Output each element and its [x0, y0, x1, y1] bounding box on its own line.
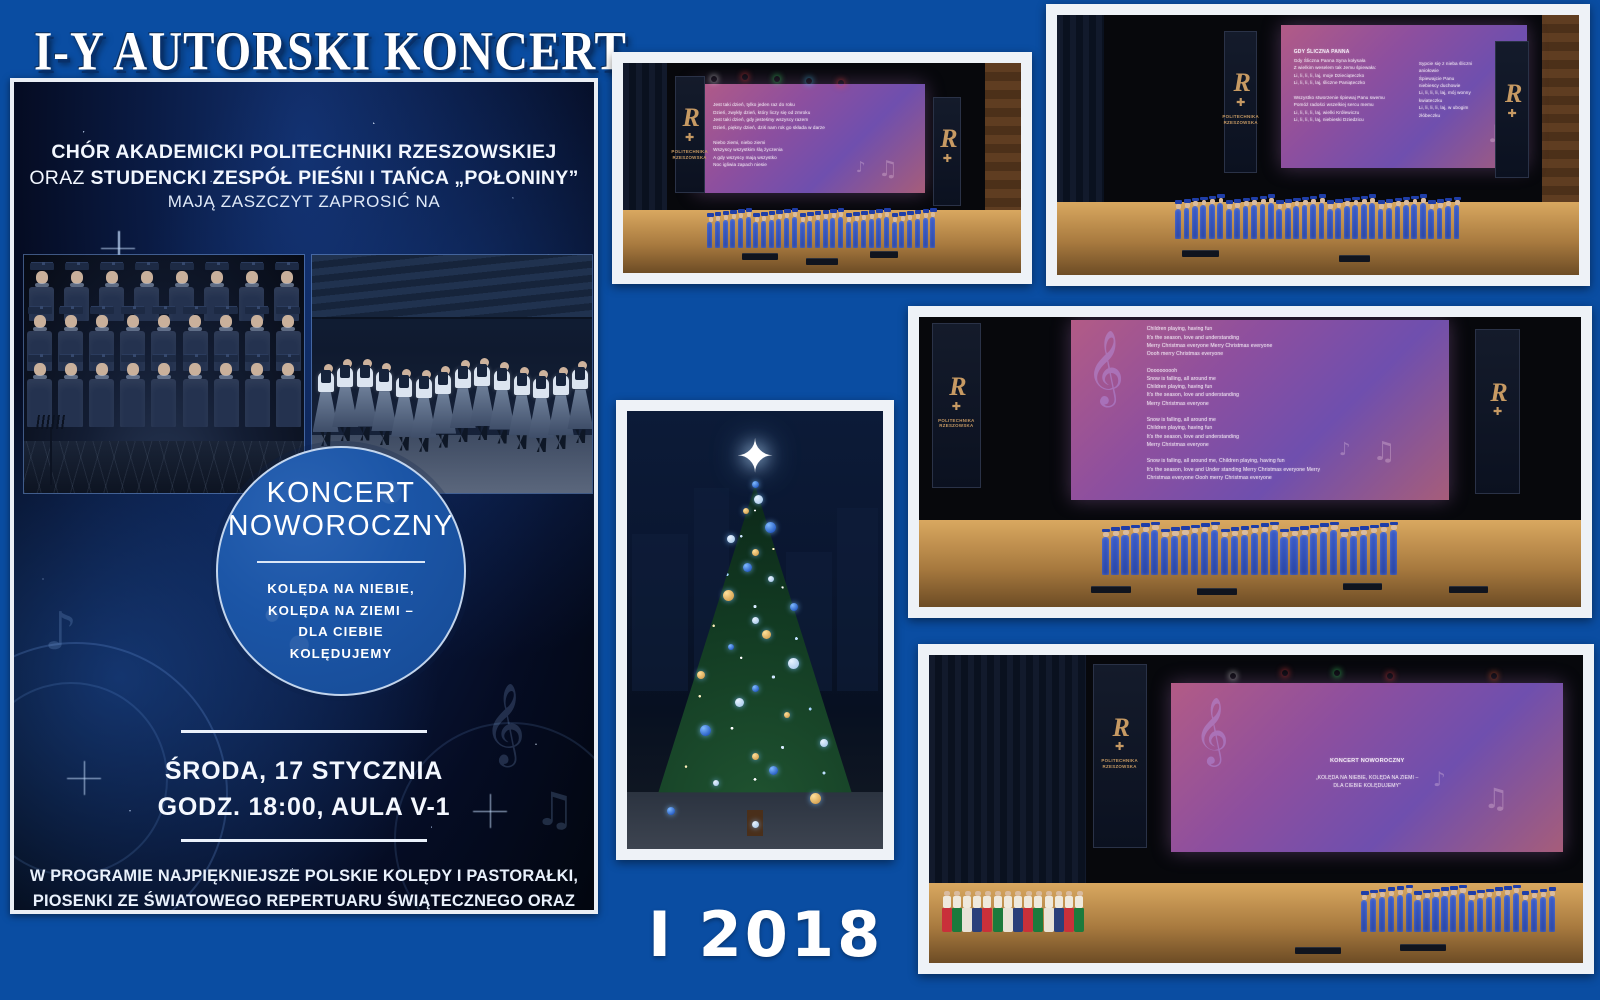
choir-member — [273, 355, 303, 427]
choir-member — [1340, 529, 1349, 575]
choir-member — [1300, 526, 1309, 575]
stage-monitor — [1182, 250, 1219, 257]
tree-ornament — [784, 712, 790, 718]
choir-member — [1290, 527, 1299, 575]
choir-member — [1302, 197, 1309, 239]
screen-lyrics: Children playing, having fun It's the se… — [1147, 325, 1411, 482]
photo-choir-polish-lyrics: ♫ ♪ Jest taki dzień, tylko jeden raz do … — [612, 52, 1032, 284]
screen-lyrics: Jest taki dzień, tylko jeden raz do roku… — [713, 101, 898, 168]
choir-member — [792, 208, 799, 248]
choir-member — [1201, 523, 1210, 575]
pr-logo-icon: R — [949, 377, 963, 398]
choir-member — [730, 210, 737, 248]
stage-monitor — [1343, 583, 1383, 590]
tree-ornament — [754, 495, 763, 504]
tree-ornament — [752, 753, 759, 760]
screen-subtitle: „KOLĘDA NA NIEBIE, KOLĘDA NA ZIEMI – DLA… — [1171, 774, 1563, 791]
poster-header-line2-prefix: ORAZ — [29, 167, 90, 189]
photo-christmas-tree: ✦ — [616, 400, 894, 860]
choir-member — [784, 209, 791, 248]
choir-member — [1184, 199, 1191, 239]
choir-member — [1234, 199, 1241, 239]
choir-member — [1330, 522, 1339, 575]
building-silhouette — [837, 508, 878, 691]
choir-line — [1057, 194, 1579, 238]
tree-ornament — [752, 821, 759, 828]
choir-member — [1191, 525, 1200, 576]
stage-scene: 𝄞 ♫ ♪ Children playing, having fun It's … — [919, 317, 1581, 607]
folk-performer — [1014, 891, 1023, 932]
pr-logo-icon: R — [1490, 383, 1504, 404]
choir-member — [1310, 525, 1319, 576]
folk-ensemble-line — [929, 891, 1583, 932]
stage-scene: ♫ Gdy Śliczna Panna Syna kołysała Z wiel… — [1057, 15, 1579, 275]
choir-member — [1380, 523, 1389, 575]
choir-member — [1352, 197, 1359, 239]
politechnika-banner: R ✚ — [1475, 329, 1520, 494]
politechnika-banner: R ✚ POLITECHNIKA RZESZOWSKA — [1093, 664, 1147, 848]
choir-member — [1231, 527, 1240, 575]
choir-member — [1102, 529, 1111, 575]
choir-member — [723, 211, 730, 248]
choir-member — [1285, 199, 1292, 239]
choir-member — [823, 210, 830, 248]
choir-member — [1251, 197, 1258, 239]
choir-member — [761, 212, 768, 248]
poster-canvas: 𝄞 ♫ ♪ CHÓR AKADEMICKI POLITECHNIKI RZESZ… — [14, 82, 594, 910]
choir-member — [1411, 196, 1418, 239]
choir-member — [211, 355, 241, 427]
choir-member — [807, 212, 814, 248]
poster-header-line2: ORAZ STUDENCKI ZESPÓŁ PIEŚNI I TAŃCA „PO… — [14, 166, 594, 192]
folk-dancer — [396, 369, 417, 451]
choir-member — [1268, 194, 1275, 238]
photo-inner: ✦ — [627, 411, 883, 849]
poster-divider-top — [181, 730, 427, 733]
stage-monitor — [1449, 586, 1489, 593]
choir-member — [1361, 196, 1368, 239]
photo-inner: ♫ ♪ Jest taki dzień, tylko jeden raz do … — [623, 63, 1021, 273]
choir-member — [1319, 194, 1326, 238]
choir-member — [1200, 197, 1207, 239]
stage-light-icon — [1491, 673, 1497, 679]
politechnika-banner: R ✚ POLITECHNIKA RZESZOWSKA — [675, 76, 705, 194]
stage-light-icon — [742, 74, 748, 80]
projection-screen: ♫ ♪ Jest taki dzień, tylko jeden raz do … — [695, 84, 926, 193]
folk-dancer — [337, 359, 358, 441]
tree-ornament — [728, 644, 734, 650]
stage-light-icon — [838, 80, 844, 86]
year-caption: I 2018 — [648, 898, 883, 971]
folk-performer — [953, 891, 962, 932]
projection-screen: 𝄞 ♫ ♪ KONCERT NOWOROCZNY „KOLĘDA NA NIEB… — [1171, 683, 1563, 852]
choir-member — [1293, 198, 1300, 239]
treble-clef-icon: 𝄞 — [1086, 331, 1124, 405]
folk-dancer — [455, 360, 476, 442]
projection-screen: ♫ Gdy Śliczna Panna Syna kołysała Z wiel… — [1281, 25, 1526, 168]
choir-member — [1241, 526, 1250, 575]
choir-member — [738, 209, 745, 248]
stage-light-icon — [1282, 670, 1288, 676]
screen-lyrics-title: GDY ŚLICZNA PANNA — [1294, 48, 1350, 56]
stage-scene: 𝄞 ♫ ♪ KONCERT NOWOROCZNY „KOLĘDA NA NIEB… — [929, 655, 1583, 963]
choir-member — [1217, 194, 1224, 238]
stage-monitor — [1197, 588, 1237, 595]
stage-monitor — [870, 251, 898, 258]
choir-member — [1192, 198, 1199, 239]
poster-program-line2: PIOSENKI ZE ŚWIATOWEGO REPERTUARU ŚWIĄTE… — [14, 889, 594, 910]
tree-ornament — [752, 617, 759, 624]
folk-dancer — [416, 370, 437, 452]
tree-ornament — [723, 590, 734, 601]
choir-member — [1211, 522, 1220, 575]
folk-performer — [983, 891, 992, 932]
poster-program-line1: W PROGRAMIE NAJPIĘKNIEJSZE POLSKIE KOLĘD… — [14, 864, 594, 889]
choir-member — [1141, 523, 1150, 575]
choir-member — [1251, 525, 1260, 576]
poster-date-line2: GODZ. 18:00, AULA V-1 — [14, 790, 594, 826]
choir-member — [907, 211, 914, 248]
choir-member — [242, 355, 272, 427]
choir-member — [800, 213, 807, 248]
pr-logo-icon: R — [1234, 73, 1248, 94]
choir-member — [1276, 200, 1283, 238]
tree-top-star-icon: ✦ — [732, 433, 778, 479]
folk-performer — [943, 891, 952, 932]
cross-icon: ✚ — [1236, 96, 1245, 109]
projection-screen: 𝄞 ♫ ♪ Children playing, having fun It's … — [1071, 320, 1448, 500]
choir-member — [830, 209, 837, 248]
choir-member — [1445, 198, 1452, 239]
collage-page: I-Y AUTORSKI KONCERT 𝄞 ♫ ♪ CHÓR AKADEMIC… — [0, 0, 1600, 1000]
choir-member — [776, 210, 783, 248]
stage-light-icon — [806, 78, 812, 84]
choir-member — [869, 210, 876, 248]
poster-header-line1: CHÓR AKADEMICKI POLITECHNIKI RZESZOWSKIE… — [14, 140, 594, 166]
politechnika-banner: R ✚ — [1495, 41, 1528, 178]
choir-member — [1386, 199, 1393, 239]
stage-light-icon — [1230, 673, 1236, 679]
music-stand-icon — [50, 427, 52, 485]
tree-ornament — [713, 780, 719, 786]
tree-ornament — [788, 658, 799, 669]
choir-member — [923, 209, 930, 248]
choir-member — [1131, 525, 1140, 576]
choir-member — [1171, 527, 1180, 575]
tree-ornament — [752, 685, 759, 692]
choir-member — [769, 211, 776, 248]
circle-divider — [257, 561, 425, 563]
choir-member — [149, 355, 179, 427]
choir-member — [1350, 527, 1359, 575]
politechnika-banner: R ✚ POLITECHNIKA RZESZOWSKA — [932, 323, 980, 488]
stage-monitor — [806, 258, 838, 265]
pr-logo-icon: R — [682, 108, 696, 129]
choir-member — [1454, 197, 1461, 239]
choir-member — [1161, 529, 1170, 575]
choir-member — [884, 208, 891, 248]
music-note-icon: 𝄞 — [484, 682, 525, 765]
choir-member — [1243, 198, 1250, 239]
poster-divider-bottom — [181, 839, 427, 842]
choir-member — [846, 213, 853, 248]
choir-member — [118, 355, 148, 427]
folk-performer — [973, 891, 982, 932]
stage-monitor — [742, 253, 778, 260]
choir-member — [1378, 200, 1385, 238]
poster-date-line1: ŚRODA, 17 STYCZNIA — [14, 754, 594, 790]
choir-member — [899, 212, 906, 248]
politechnika-banner: R ✚ POLITECHNIKA RZESZOWSKA — [1224, 31, 1257, 174]
poster-header: CHÓR AKADEMICKI POLITECHNIKI RZESZOWSKIE… — [14, 140, 594, 214]
choir-member — [1420, 194, 1427, 238]
circle-title-line2: NOWOROCZNY — [228, 510, 454, 543]
tree-ornament — [667, 807, 675, 815]
folk-performer — [1024, 891, 1033, 932]
stage-light-icon — [774, 76, 780, 82]
stage-light-icon — [711, 76, 717, 82]
tree-ornament — [743, 563, 752, 572]
banner-label: POLITECHNIKA RZESZOWSKA — [1222, 114, 1259, 125]
cross-icon: ✚ — [952, 400, 961, 413]
folk-dancer — [553, 367, 574, 449]
photo-inner: 𝄞 ♫ ♪ KONCERT NOWOROCZNY „KOLĘDA NA NIEB… — [929, 655, 1583, 963]
folk-performer — [1004, 891, 1013, 932]
poster-program-block: W PROGRAMIE NAJPIĘKNIEJSZE POLSKIE KOLĘD… — [14, 864, 594, 910]
choir-member — [1344, 198, 1351, 239]
banner-label: POLITECHNIKA RZESZOWSKA — [671, 149, 708, 160]
banner-label: POLITECHNIKA RZESZOWSKA — [1101, 758, 1138, 769]
circle-subtitle: KOLĘDA NA NIEBIE, KOLĘDA NA ZIEMI – DLA … — [267, 578, 414, 665]
choir-member — [1151, 522, 1160, 575]
choir-member — [1390, 522, 1399, 575]
photo-finale-choir-and-folk: 𝄞 ♫ ♪ KONCERT NOWOROCZNY „KOLĘDA NA NIEB… — [918, 644, 1594, 974]
choir-member — [1121, 526, 1130, 575]
poster-circle-badge: KONCERT NOWOROCZNY KOLĘDA NA NIEBIE, KOL… — [216, 446, 466, 696]
choir-member — [815, 211, 822, 248]
choir-member — [180, 355, 210, 427]
poster-header-line3: MAJĄ ZASZCZYT ZAPROSIĆ NA — [14, 191, 594, 213]
choir-member — [753, 213, 760, 248]
photo-inner: ♫ Gdy Śliczna Panna Syna kołysała Z wiel… — [1057, 15, 1579, 275]
photo-inner: 𝄞 ♫ ♪ Children playing, having fun It's … — [919, 317, 1581, 607]
choir-member — [1209, 196, 1216, 239]
folk-performer — [1034, 891, 1043, 932]
choir-member — [853, 212, 860, 248]
stage-monitor — [1400, 944, 1446, 951]
folk-dancer — [572, 361, 593, 443]
stage-light-icon — [1387, 673, 1393, 679]
choir-row-front — [24, 355, 304, 427]
choir-member — [87, 355, 117, 427]
choir-member — [1403, 197, 1410, 239]
choir-member — [1310, 196, 1317, 239]
folk-dancer — [533, 370, 554, 452]
screen-title: KONCERT NOWOROCZNY — [1171, 757, 1563, 766]
folk-performer — [1045, 891, 1054, 932]
cross-icon: ✚ — [943, 152, 952, 165]
folk-performer — [1065, 891, 1074, 932]
choir-member — [1260, 196, 1267, 239]
barn-roof — [312, 255, 592, 319]
circle-title-line1: KONCERT — [267, 477, 416, 510]
tree-ornament — [752, 549, 759, 556]
poster-header-line2-bold: STUDENCKI ZESPÓŁ PIEŚNI I TAŃCA „POŁONIN… — [90, 167, 578, 189]
choir-member — [1370, 525, 1379, 576]
stage-scene: ♫ ♪ Jest taki dzień, tylko jeden raz do … — [623, 63, 1021, 273]
choir-member — [1437, 199, 1444, 239]
choir-member — [1181, 526, 1190, 575]
screen-lyrics-column-1: Gdy Śliczna Panna Syna kołysała Z wielki… — [1294, 57, 1397, 124]
tree-ornament — [765, 522, 776, 533]
choir-member — [915, 210, 922, 248]
choir-member — [1111, 527, 1120, 575]
cross-icon: ✚ — [685, 131, 694, 144]
choir-member — [1327, 200, 1334, 238]
poster-date-block: ŚRODA, 17 STYCZNIA GODZ. 18:00, AULA V-1 — [14, 754, 594, 825]
photo-gdy-sliczna-panna: ♫ Gdy Śliczna Panna Syna kołysała Z wiel… — [1046, 4, 1590, 286]
politechnika-banner: R ✚ — [933, 97, 961, 206]
cross-icon: ✚ — [1508, 107, 1517, 120]
christmas-tree-scene: ✦ — [627, 411, 883, 849]
stage-monitor — [1091, 586, 1131, 593]
choir-member — [746, 208, 753, 248]
choir-member — [1360, 526, 1369, 575]
stage-monitor — [1339, 255, 1370, 262]
choir-member — [1270, 522, 1279, 575]
choir-member — [930, 208, 937, 248]
building-silhouette — [632, 534, 688, 691]
banner-label: POLITECHNIKA RZESZOWSKA — [938, 418, 975, 429]
pr-logo-icon: R — [1505, 84, 1519, 105]
choir-member — [1221, 529, 1230, 575]
choir-member — [861, 211, 868, 248]
photo-merry-christmas-everyone: 𝄞 ♫ ♪ Children playing, having fun It's … — [908, 306, 1592, 618]
choir-member — [838, 208, 845, 248]
choir-member — [1369, 194, 1376, 238]
choir-member — [1280, 529, 1289, 575]
cross-icon: ✚ — [1115, 740, 1124, 753]
choir-member — [1226, 200, 1233, 238]
choir-member — [892, 213, 899, 248]
page-title: I-Y AUTORSKI KONCERT — [34, 20, 627, 84]
music-note-icon: ♪ — [44, 602, 77, 662]
folk-dancer — [318, 364, 339, 446]
choir-line — [919, 522, 1581, 575]
folk-performer — [963, 891, 972, 932]
choir-member — [1335, 199, 1342, 239]
choir-member — [1175, 200, 1182, 238]
choir-member — [1320, 523, 1329, 575]
treble-clef-icon: 𝄞 — [1195, 696, 1229, 765]
cross-icon: ✚ — [1493, 405, 1502, 418]
choir-member — [1261, 523, 1270, 575]
stage-light-icon — [1334, 670, 1340, 676]
choir-member — [876, 209, 883, 248]
concert-poster: 𝄞 ♫ ♪ CHÓR AKADEMICKI POLITECHNIKI RZESZ… — [10, 78, 598, 914]
dancer-group — [312, 311, 592, 446]
pr-logo-icon: R — [940, 129, 954, 150]
folk-performer — [1075, 891, 1084, 932]
folk-dancer — [435, 366, 456, 448]
folk-performer — [994, 891, 1003, 932]
choir-member — [707, 213, 714, 248]
stage-monitor — [1295, 947, 1341, 954]
choir-line — [623, 208, 1021, 248]
choir-member — [715, 212, 722, 248]
choir-member — [1395, 198, 1402, 239]
choir-member — [1428, 200, 1435, 238]
pr-logo-icon: R — [1112, 718, 1126, 739]
folk-performer — [1055, 891, 1064, 932]
